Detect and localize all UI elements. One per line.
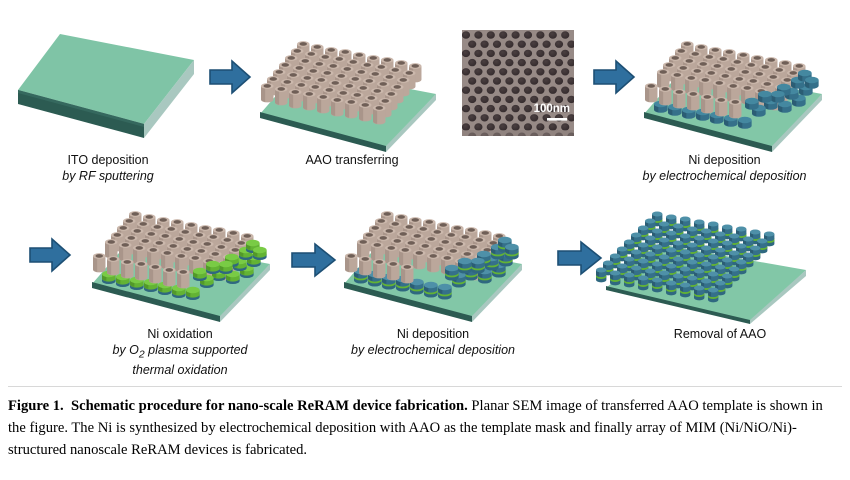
step-1-line1: ITO deposition (28, 152, 188, 168)
step-1-label: ITO deposition by RF sputtering (28, 152, 188, 184)
step-4-label: Ni oxidation by O2 plasma supported ther… (80, 326, 280, 378)
step-5-line2: by electrochemical deposition (318, 342, 548, 358)
step-5-line1: Ni deposition (318, 326, 548, 342)
step-3-label: Ni deposition by electrochemical deposit… (612, 152, 837, 184)
caption-divider (8, 386, 842, 387)
sem-inset-image: 100nm (462, 30, 574, 136)
sem-scalebar-label: 100nm (534, 103, 570, 115)
arrow-step2-to-step3 (592, 58, 636, 96)
diagram-step-6-removal-of-aao (600, 198, 820, 324)
step-3-line2: by electrochemical deposition (612, 168, 837, 184)
figure-caption: Figure 1. Schematic procedure for nano-s… (8, 396, 844, 462)
step-6-label: Removal of AAO (620, 326, 820, 342)
caption-figure-number: Figure 1. (8, 398, 64, 414)
step-3-line1: Ni deposition (612, 152, 837, 168)
step-2-label: AAO transferring (272, 152, 432, 168)
step-6-line1: Removal of AAO (620, 326, 820, 342)
diagram-step-3-ni-deposition (632, 26, 832, 152)
arrow-step1-to-step2 (208, 58, 252, 96)
step-2-line1: AAO transferring (272, 152, 432, 168)
step-4-line1: Ni oxidation (80, 326, 280, 342)
step-1-line2: by RF sputtering (28, 168, 188, 184)
diagram-step-1-ito-substrate (12, 28, 202, 146)
caption-title: Schematic procedure for nano-scale ReRAM… (71, 398, 468, 414)
step-4-line3: thermal oxidation (80, 362, 280, 378)
sem-scalebar (547, 118, 567, 121)
figure-panel: ITO deposition by RF sputtering (0, 0, 850, 480)
diagram-step-4-ni-oxidation (80, 196, 280, 322)
arrow-step4-to-step5 (290, 240, 338, 280)
step-4-line2: by O2 plasma supported (80, 342, 280, 362)
arrow-step3-to-step4 (14, 232, 72, 276)
diagram-step-5-second-ni-deposition (332, 196, 532, 322)
step-5-label: Ni deposition by electrochemical deposit… (318, 326, 548, 358)
diagram-step-2-aao-template (250, 26, 446, 152)
